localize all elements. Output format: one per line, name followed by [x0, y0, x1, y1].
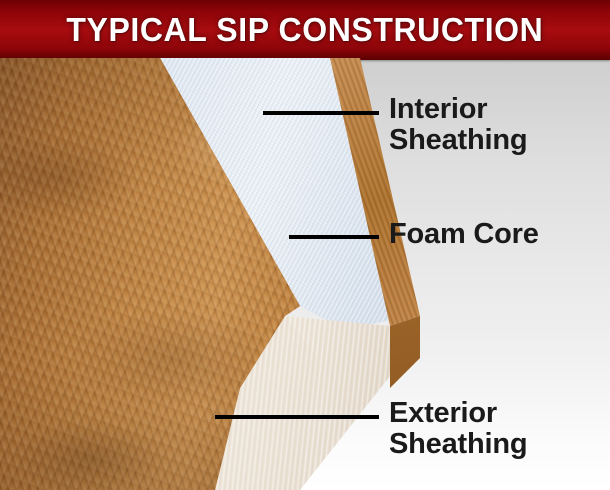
- label-exterior-sheathing: Exterior Sheathing: [389, 398, 527, 460]
- title-banner: TYPICAL SIP CONSTRUCTION: [0, 0, 610, 60]
- label-interior-sheathing: Interior Sheathing: [389, 94, 527, 156]
- sip-construction-diagram: TYPICAL SIP CONSTRUCTION Interior Sheath…: [0, 0, 610, 490]
- page-title: TYPICAL SIP CONSTRUCTION: [67, 11, 544, 49]
- leader-line-exterior-sheathing: [215, 415, 379, 419]
- leader-line-interior-sheathing: [263, 111, 379, 115]
- sip-panel-illustration: [0, 58, 420, 490]
- leader-line-foam-core: [289, 235, 379, 239]
- label-foam-core: Foam Core: [389, 219, 539, 250]
